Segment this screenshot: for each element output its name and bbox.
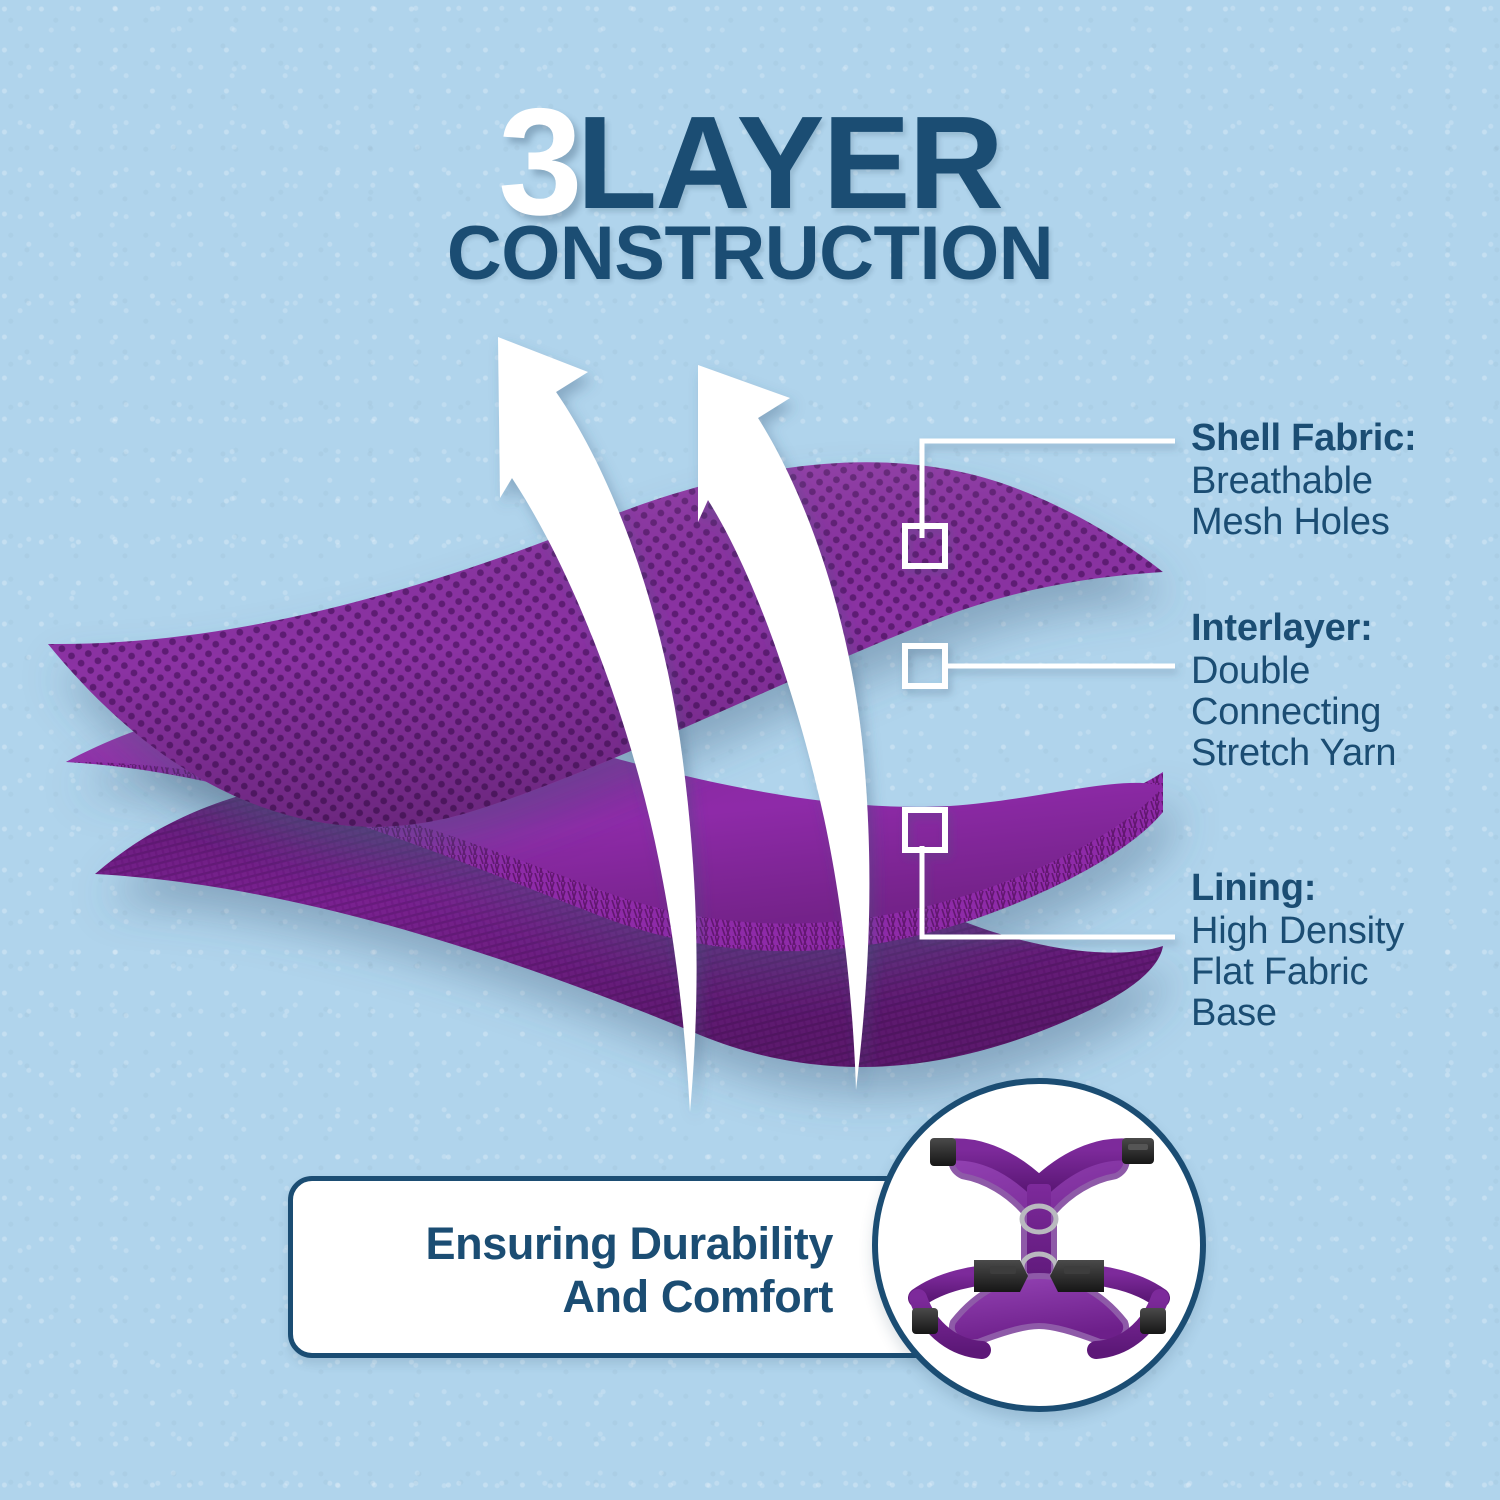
slider-right xyxy=(1122,1138,1154,1164)
marker-lining xyxy=(905,810,945,850)
airflow-arrow-left xyxy=(498,337,697,1112)
buckle-left xyxy=(974,1260,1028,1292)
tagline-text: Ensuring Durability And Comfort xyxy=(333,1217,833,1323)
layer-interlayer xyxy=(66,698,1163,951)
dog-harness-illustration xyxy=(878,1084,1200,1406)
infographic-page: 3LAYER CONSTRUCTION xyxy=(0,0,1500,1500)
slider-left xyxy=(930,1138,956,1166)
buckle-right xyxy=(1050,1260,1104,1292)
callout-interlayer: Interlayer: Double Connecting Stretch Ya… xyxy=(1191,608,1396,774)
callout-lining: Lining: High Density Flat Fabric Base xyxy=(1191,868,1404,1034)
page-title: 3LAYER CONSTRUCTION xyxy=(0,86,1500,292)
callout-description: High Density Flat Fabric Base xyxy=(1191,911,1404,1034)
layer-shell-fabric xyxy=(48,462,1163,827)
connector-interlayer xyxy=(905,646,1175,686)
product-image-circle xyxy=(872,1078,1206,1412)
marker-shell xyxy=(905,526,945,566)
slider-lower-left xyxy=(912,1308,938,1334)
callout-title: Shell Fabric: xyxy=(1191,418,1416,459)
connector-shell xyxy=(905,441,1175,566)
layer-lining xyxy=(95,777,1163,1067)
slider-lower-right xyxy=(1140,1308,1166,1334)
callout-title: Interlayer: xyxy=(1191,608,1396,649)
title-subline: CONSTRUCTION xyxy=(0,216,1500,292)
callout-description: Double Connecting Stretch Yarn xyxy=(1191,651,1396,774)
connector-lining xyxy=(905,810,1175,937)
callout-shell-fabric: Shell Fabric: Breathable Mesh Holes xyxy=(1191,418,1416,543)
callout-description: Breathable Mesh Holes xyxy=(1191,461,1416,543)
airflow-arrow-right xyxy=(698,365,869,1090)
callout-title: Lining: xyxy=(1191,868,1404,909)
marker-interlayer xyxy=(905,646,945,686)
